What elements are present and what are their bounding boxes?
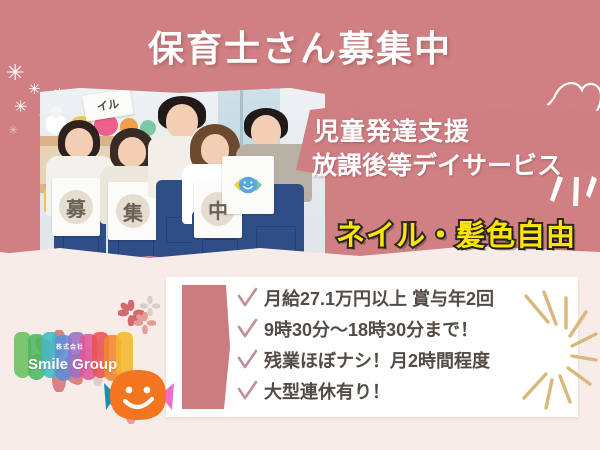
- service-line-1: 児童発達支援: [314, 112, 470, 148]
- benefit-text: 月給27.1万円以上 賞与年2回: [264, 285, 494, 311]
- benefit-text: 残業ほぼナシ！月2時間程度: [264, 347, 490, 373]
- check-icon: [236, 349, 258, 371]
- photo-logo-sign: [222, 156, 274, 214]
- logo-company-prefix: 株式会社: [56, 342, 84, 351]
- sparkle-icon: ✳: [14, 100, 27, 116]
- check-icon: [236, 380, 258, 402]
- sparkle-icon: ✳: [28, 82, 41, 97]
- photo-sign-char: 募: [52, 178, 100, 236]
- check-icon: [236, 287, 258, 309]
- service-line-2: 放課後等デイサービス: [312, 146, 562, 182]
- benefit-item: 残業ほぼナシ！月2時間程度: [236, 344, 536, 375]
- company-logo: 株式会社 Smile Group: [14, 332, 164, 402]
- benefit-item: 9時30分〜18時30分まで！: [236, 313, 536, 344]
- smile-candy-icon: [231, 171, 265, 199]
- benefit-item: 大型連休有り！: [236, 375, 536, 406]
- sparkle-icon: ✳: [8, 124, 18, 136]
- smile-candy-logo-icon: [100, 366, 176, 424]
- staff-photo: イル 募 集: [40, 88, 325, 268]
- card-accent-tab: [182, 285, 230, 409]
- recruitment-poster: ✳ ✳ ✳ ✳ ✳ ✳ 保育士さん募集中 イル 募: [0, 0, 600, 450]
- check-icon: [236, 318, 258, 340]
- benefits-list: 月給27.1万円以上 賞与年2回 9時30分〜18時30分まで！ 残業ほぼナシ！…: [236, 282, 536, 406]
- catch-copy: ネイル・髪色自由: [336, 212, 576, 254]
- white-burst-icon: [548, 176, 600, 216]
- flower-icon: [134, 312, 156, 334]
- benefit-text: 9時30分〜18時30分まで！: [264, 316, 478, 342]
- page-title: 保育士さん募集中: [0, 20, 600, 72]
- benefit-item: 月給27.1万円以上 賞与年2回: [236, 282, 536, 313]
- benefit-text: 大型連休有り！: [264, 378, 390, 404]
